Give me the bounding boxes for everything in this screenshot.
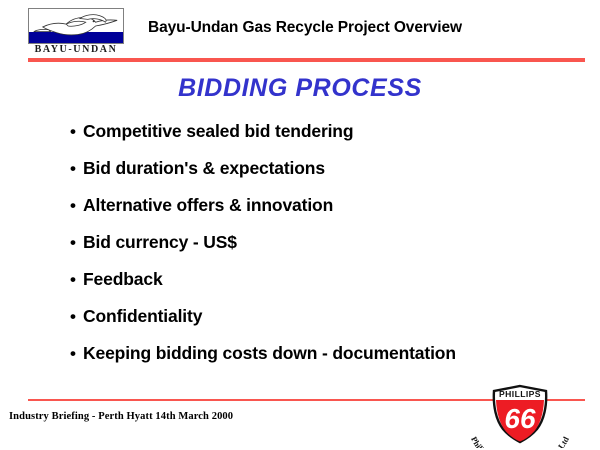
list-item: • Keeping bidding costs down - documenta…	[70, 343, 590, 380]
phillips-66-logo: PHILLIPS 66 Phillips Petroleum (91-12) P…	[448, 384, 592, 448]
list-item: • Confidentiality	[70, 306, 590, 343]
page-title: Bayu-Undan Gas Recycle Project Overview	[148, 19, 462, 37]
bullet-list: • Competitive sealed bid tendering • Bid…	[70, 121, 590, 380]
bullet-icon: •	[70, 308, 83, 325]
footer-caption: Industry Briefing - Perth Hyatt 14th Mar…	[9, 411, 233, 422]
bullet-icon: •	[70, 160, 83, 177]
bullet-icon: •	[70, 345, 83, 362]
list-item-label: Confidentiality	[83, 306, 202, 327]
list-item: • Bid currency - US$	[70, 232, 590, 269]
phillips-brand-number: 66	[504, 403, 536, 434]
list-item: • Competitive sealed bid tendering	[70, 121, 590, 158]
logo-wordmark: BAYU-UNDAN	[24, 44, 128, 55]
list-item-label: Bid duration's & expectations	[83, 158, 325, 179]
bullet-icon: •	[70, 123, 83, 140]
slide-canvas: BAYU-UNDAN Bayu-Undan Gas Recycle Projec…	[0, 0, 600, 450]
header-divider	[28, 58, 585, 62]
list-item-label: Keeping bidding costs down - documentati…	[83, 343, 456, 364]
list-item: • Feedback	[70, 269, 590, 306]
list-item: • Alternative offers & innovation	[70, 195, 590, 232]
list-item-label: Alternative offers & innovation	[83, 195, 333, 216]
list-item-label: Competitive sealed bid tendering	[83, 121, 353, 142]
bullet-icon: •	[70, 197, 83, 214]
slide-heading: BIDDING PROCESS	[0, 74, 600, 103]
bullet-icon: •	[70, 234, 83, 251]
bayu-undan-logo	[28, 8, 124, 44]
list-item: • Bid duration's & expectations	[70, 158, 590, 195]
phillips-brand-top: PHILLIPS	[499, 389, 541, 399]
list-item-label: Bid currency - US$	[83, 232, 237, 253]
list-item-label: Feedback	[83, 269, 163, 290]
bullet-icon: •	[70, 271, 83, 288]
bird-icon	[29, 9, 123, 43]
